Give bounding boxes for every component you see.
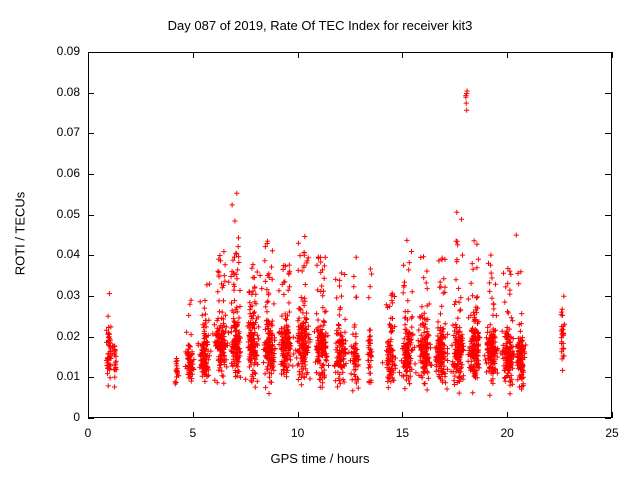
x-tick-label: 10 [273,426,323,440]
x-tick-mark [88,52,89,58]
y-tick-label: 0.07 [26,125,80,139]
y-tick-label: 0.09 [26,44,80,58]
y-tick-mark [88,377,94,378]
x-tick-label: 0 [63,426,113,440]
y-tick-mark [605,133,611,134]
x-axis-label: GPS time / hours [0,451,640,466]
x-tick-label: 5 [168,426,218,440]
y-tick-mark [88,174,94,175]
y-tick-label: 0.01 [26,369,80,383]
y-tick-label: 0.02 [26,329,80,343]
roti-scatter-chart: Day 087 of 2019, Rate Of TEC Index for r… [0,0,640,480]
x-tick-mark [298,52,299,58]
x-tick-mark [402,412,403,418]
y-tick-mark [605,418,611,419]
x-tick-mark [507,412,508,418]
y-tick-mark [88,93,94,94]
x-tick-mark [612,52,613,58]
y-tick-mark [605,174,611,175]
x-tick-mark [402,52,403,58]
scatter-points [89,53,612,418]
y-tick-mark [88,255,94,256]
y-tick-mark [88,296,94,297]
y-tick-label: 0 [26,410,80,424]
x-tick-label: 25 [587,426,637,440]
x-tick-mark [298,412,299,418]
y-tick-mark [88,215,94,216]
y-tick-label: 0.06 [26,166,80,180]
y-tick-mark [605,296,611,297]
y-tick-mark [605,377,611,378]
y-tick-label: 0.05 [26,207,80,221]
y-tick-label: 0.03 [26,288,80,302]
x-tick-mark [507,52,508,58]
plot-area [88,52,612,418]
y-axis-label: ROTI / TECUs [13,51,28,417]
x-tick-mark [612,412,613,418]
y-tick-mark [605,52,611,53]
y-tick-label: 0.04 [26,247,80,261]
x-tick-label: 15 [377,426,427,440]
y-tick-mark [88,133,94,134]
x-tick-label: 20 [482,426,532,440]
y-tick-mark [88,418,94,419]
x-tick-mark [193,412,194,418]
y-tick-mark [605,255,611,256]
x-tick-mark [193,52,194,58]
y-tick-mark [605,337,611,338]
x-tick-mark [88,412,89,418]
y-tick-mark [605,93,611,94]
y-tick-label: 0.08 [26,85,80,99]
y-tick-mark [88,337,94,338]
chart-title: Day 087 of 2019, Rate Of TEC Index for r… [0,18,640,33]
y-tick-mark [605,215,611,216]
